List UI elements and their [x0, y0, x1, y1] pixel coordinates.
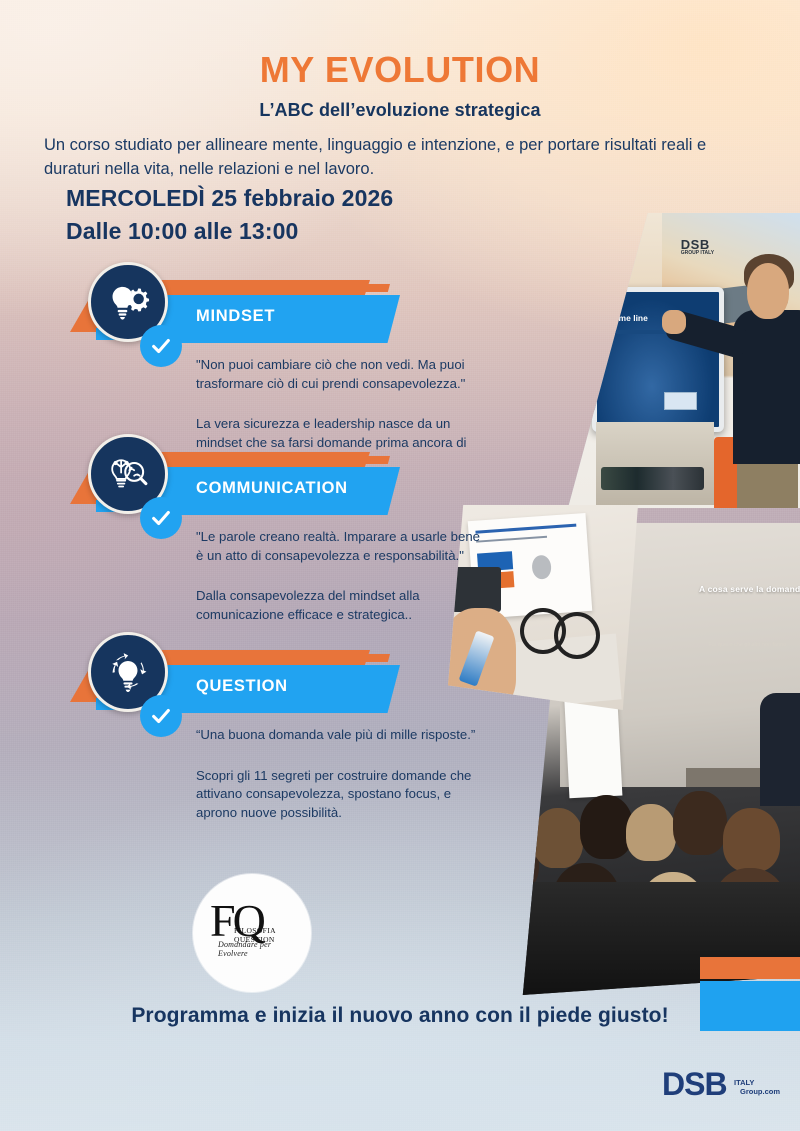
ribbon-orange-accent — [178, 654, 390, 662]
photo1-board-window — [664, 392, 698, 410]
photo-trainer-at-smartboard: DSB GROUP ITALY Time line — [568, 213, 800, 508]
photo3-projection-subtext: Fai quello che gli altri non fanno — [709, 642, 787, 648]
check-icon — [140, 497, 182, 539]
step-quote: “Una buona domanda vale più di mille ris… — [196, 726, 486, 745]
step-body: "Le parole creano realtà. Imparare a usa… — [196, 528, 486, 625]
fq-logo-inner: FQ FILOSOFIA QUESTION Domandare per Evol… — [202, 896, 302, 970]
step-communication: COMMUNICATION "Le parole creano realtà. … — [0, 434, 470, 512]
audience-head — [626, 804, 676, 861]
step-label: COMMUNICATION — [196, 479, 348, 498]
dsb-brand-sub: ITALY Group.com — [734, 1079, 780, 1096]
photo3-projection-text: A cosa serve la domanda? — [699, 584, 800, 594]
intro-paragraph: Un corso studiato per allineare mente, l… — [44, 134, 756, 182]
step-label: QUESTION — [196, 677, 288, 696]
fq-tagline: Domandare per Evolvere — [218, 940, 302, 958]
ribbon-orange-accent — [178, 284, 390, 292]
audience-head — [723, 808, 780, 872]
step-label: MINDSET — [196, 307, 275, 326]
audience-head — [673, 791, 726, 855]
photo1-desk-items — [601, 467, 704, 491]
schedule-block: MERCOLEDÌ 25 febbraio 2026 Dalle 10:00 a… — [66, 182, 393, 247]
photo1-poster-brand-sub: GROUP ITALY — [681, 250, 714, 256]
step-ribbon: QUESTION — [0, 632, 470, 710]
event-date: MERCOLEDÌ 25 febbraio 2026 — [66, 182, 393, 215]
audience-head — [466, 868, 526, 936]
step-ribbon: COMMUNICATION — [0, 434, 470, 512]
photo1-board-label: Time line — [611, 313, 648, 323]
step-mindset: MINDSET "Non puoi cambiare ciò che non v… — [0, 262, 470, 340]
cta-text: Programma e inizia il nuovo anno con il … — [0, 1004, 800, 1028]
photo2-brochure-headline — [475, 524, 576, 534]
dsb-logo: DSB ITALY Group.com — [662, 1068, 727, 1100]
audience-head — [580, 795, 633, 859]
photo2-brochure-subline — [476, 536, 547, 543]
dsb-brand-sub-line2: Group.com — [740, 1088, 780, 1097]
audience-head — [486, 829, 539, 893]
event-time: Dalle 10:00 alle 13:00 — [66, 215, 393, 248]
dsb-brand: DSB — [662, 1068, 727, 1100]
step-body: “Una buona domanda vale più di mille ris… — [196, 726, 486, 823]
photo-collage: DSB GROUP ITALY Time line A cosa serve l… — [440, 205, 800, 995]
photo1-smartboard: Time line — [592, 287, 724, 433]
photo1-poster-brand: DSB GROUP ITALY — [681, 237, 714, 256]
step-quote: "Non puoi cambiare ciò che non vedi. Ma … — [196, 356, 486, 393]
photo1-person-hand — [662, 310, 686, 334]
photo1-person-legs — [737, 458, 798, 508]
fq-logo: FQ FILOSOFIA QUESTION Domandare per Evol… — [193, 874, 311, 992]
step-ribbon: MINDSET — [0, 262, 470, 340]
step-question: QUESTION “Una buona domanda vale più di … — [0, 632, 470, 710]
page-subtitle: L’ABC dell’evoluzione strategica — [0, 100, 800, 121]
step-detail: Scopri gli 11 segreti per costruire doma… — [196, 767, 486, 823]
audience-head — [533, 808, 583, 867]
header: MY EVOLUTION L’ABC dell’evoluzione strat… — [0, 52, 800, 182]
poster-root: MY EVOLUTION L’ABC dell’evoluzione strat… — [0, 0, 800, 1131]
photo2-seal — [531, 555, 551, 580]
step-quote: "Le parole creano realtà. Imparare a usa… — [196, 528, 486, 565]
decor-orange-bar — [700, 957, 800, 979]
ribbon-orange-accent — [178, 456, 390, 464]
step-detail: Dalla consapevolezza del mindset alla co… — [196, 587, 486, 624]
photo2-glasses-right-lens — [554, 612, 600, 659]
check-icon — [140, 695, 182, 737]
page-title: MY EVOLUTION — [0, 52, 800, 88]
photo1-person-head — [747, 263, 789, 319]
photo1-board-stand — [596, 422, 714, 505]
check-icon — [140, 325, 182, 367]
